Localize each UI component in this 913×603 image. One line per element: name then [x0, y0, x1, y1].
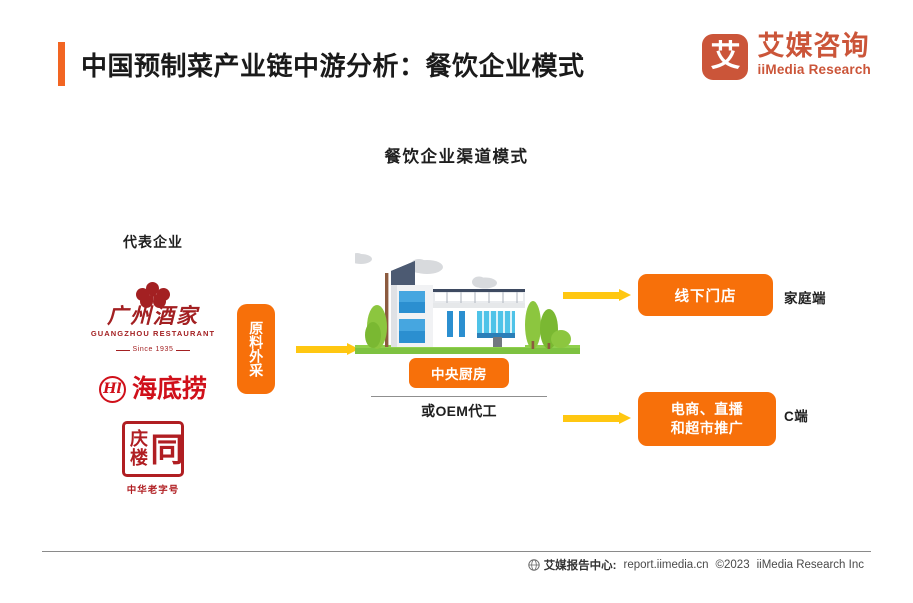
seal-char-tong: 同: [153, 424, 181, 474]
footer-divider: [42, 551, 871, 552]
footer-company: iiMedia Research Inc: [757, 559, 864, 571]
page-footer: 艾媒报告中心: report.iimedia.cn ©2023 iiMedia …: [528, 557, 871, 573]
seal-char-lou: 楼: [130, 449, 148, 468]
endpoint-label-household: 家庭端: [784, 287, 826, 307]
circle-emblem-icon: Hl: [99, 376, 126, 403]
brand-name-cn: 艾媒咨询: [757, 33, 871, 60]
brand-mark-icon: 艾: [702, 34, 748, 80]
flow-node-central-kitchen: 中央厨房: [409, 358, 509, 388]
companies-heading: 代表企业: [88, 232, 218, 252]
company-logo-guangzhou: 广州酒家 GUANGZHOU RESTAURANT Since 1935: [88, 282, 218, 356]
flow-node-offline-store: 线下门店: [638, 274, 773, 316]
brand-name-en: iiMedia Research: [757, 60, 871, 80]
company-name-haidilao: 海底捞: [132, 377, 207, 402]
flow-node-online-channels: 电商、直播 和超市推广: [638, 392, 776, 446]
title-accent-bar: [58, 42, 65, 86]
endpoint-label-consumer: C端: [784, 405, 808, 425]
company-logo-tongqinglou: 庆 楼 同 中华老字号: [88, 421, 218, 496]
footer-copyright: ©2023: [716, 559, 750, 571]
flow-node-oem: 或OEM代工: [371, 401, 547, 421]
flower-blossom-icon: [136, 282, 170, 304]
arrow-right-icon-2: [563, 289, 631, 301]
central-kitchen-illustration: [355, 245, 580, 357]
footer-url[interactable]: report.iimedia.cn: [624, 559, 709, 571]
flow-node-raw-material: 原料外采: [237, 304, 275, 394]
seal-left-chars: 庆 楼: [125, 424, 153, 474]
company-since-guangzhou: Since 1935: [116, 346, 189, 353]
brand-logo: 艾 艾媒咨询 iiMedia Research: [702, 33, 871, 80]
company-subtitle-tongqinglou: 中华老字号: [88, 482, 218, 496]
brand-text: 艾媒咨询 iiMedia Research: [757, 33, 871, 80]
globe-icon: [528, 559, 540, 571]
online-channels-line-2: 和超市推广: [671, 419, 744, 438]
seal-char-qing: 庆: [130, 430, 148, 449]
page-title: 中国预制菜产业链中游分析：餐饮企业模式: [81, 46, 585, 83]
company-logo-haidilao: Hl 海底捞: [88, 376, 218, 403]
seal-stamp-icon: 庆 楼 同: [122, 421, 184, 477]
company-name-en-guangzhou: GUANGZHOU RESTAURANT: [88, 329, 218, 338]
online-channels-line-1: 电商、直播: [671, 400, 744, 419]
company-name-guangzhou: 广州酒家: [88, 305, 218, 327]
arrow-right-icon-3: [563, 412, 631, 424]
representative-companies: 代表企业 广州酒家 GUANGZHOU RESTAURANT Since 193…: [88, 232, 218, 496]
arrow-right-icon-1: [296, 343, 359, 355]
footer-site-label: 艾媒报告中心:: [544, 557, 617, 573]
chart-subtitle: 餐饮企业渠道模式: [0, 143, 913, 167]
oem-divider: [371, 396, 547, 397]
